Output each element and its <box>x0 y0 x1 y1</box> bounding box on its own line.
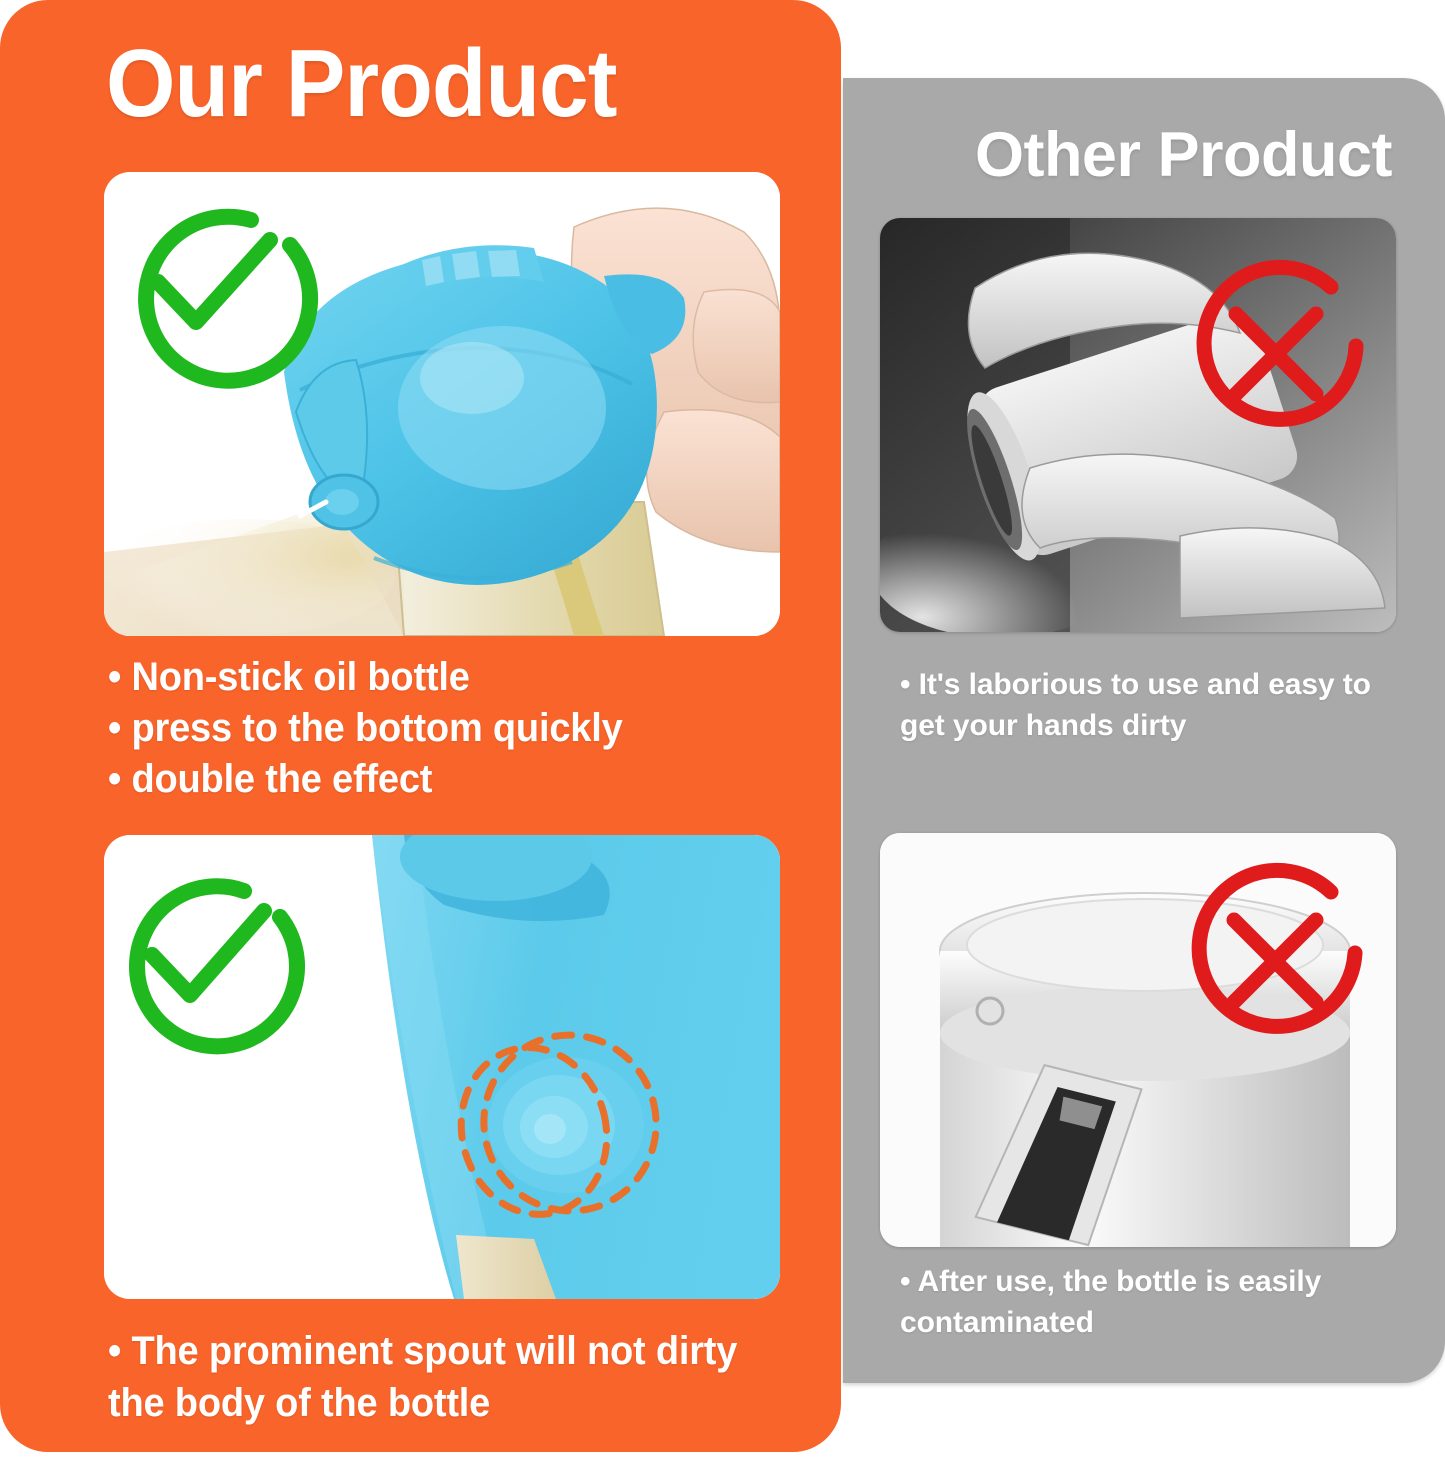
photo-card-other-top <box>880 218 1396 632</box>
photo-card-other-bottom <box>880 833 1396 1247</box>
other-product-title: Other Product <box>880 122 1392 188</box>
our-product-bullets: • Non-stick oil bottle • press to the bo… <box>108 652 764 804</box>
grayscale-contaminated-bottle-spout-image <box>880 833 1396 1247</box>
caption-line-2: the body of the bottle <box>108 1377 773 1429</box>
caption-line-1: • The prominent spout will not dirty <box>108 1325 773 1377</box>
other-product-caption-top: • It's laborious to use and easy to get … <box>900 665 1400 746</box>
bullet-item: • Non-stick oil bottle <box>108 652 764 703</box>
our-product-caption: • The prominent spout will not dirty the… <box>108 1325 773 1429</box>
photo-card-our-top <box>104 172 780 636</box>
other-product-caption-bottom: • After use, the bottle is easily contam… <box>900 1262 1400 1343</box>
caption-line-1: • After use, the bottle is easily <box>900 1262 1400 1303</box>
caption-line-2: get your hands dirty <box>900 706 1400 747</box>
photo-card-our-bottom <box>104 835 780 1299</box>
bullet-item: • press to the bottom quickly <box>108 703 764 754</box>
grayscale-hand-squeezing-bottle-image <box>880 218 1396 632</box>
blue-cap-spout-closeup-image <box>104 835 780 1299</box>
caption-line-2: contaminated <box>900 1303 1400 1344</box>
caption-line-1: • It's laborious to use and easy to <box>900 665 1400 706</box>
our-product-title: Our Product <box>106 34 757 135</box>
hand-holding-blue-spray-oil-bottle-image <box>104 172 780 636</box>
bullet-item: • double the effect <box>108 754 764 805</box>
